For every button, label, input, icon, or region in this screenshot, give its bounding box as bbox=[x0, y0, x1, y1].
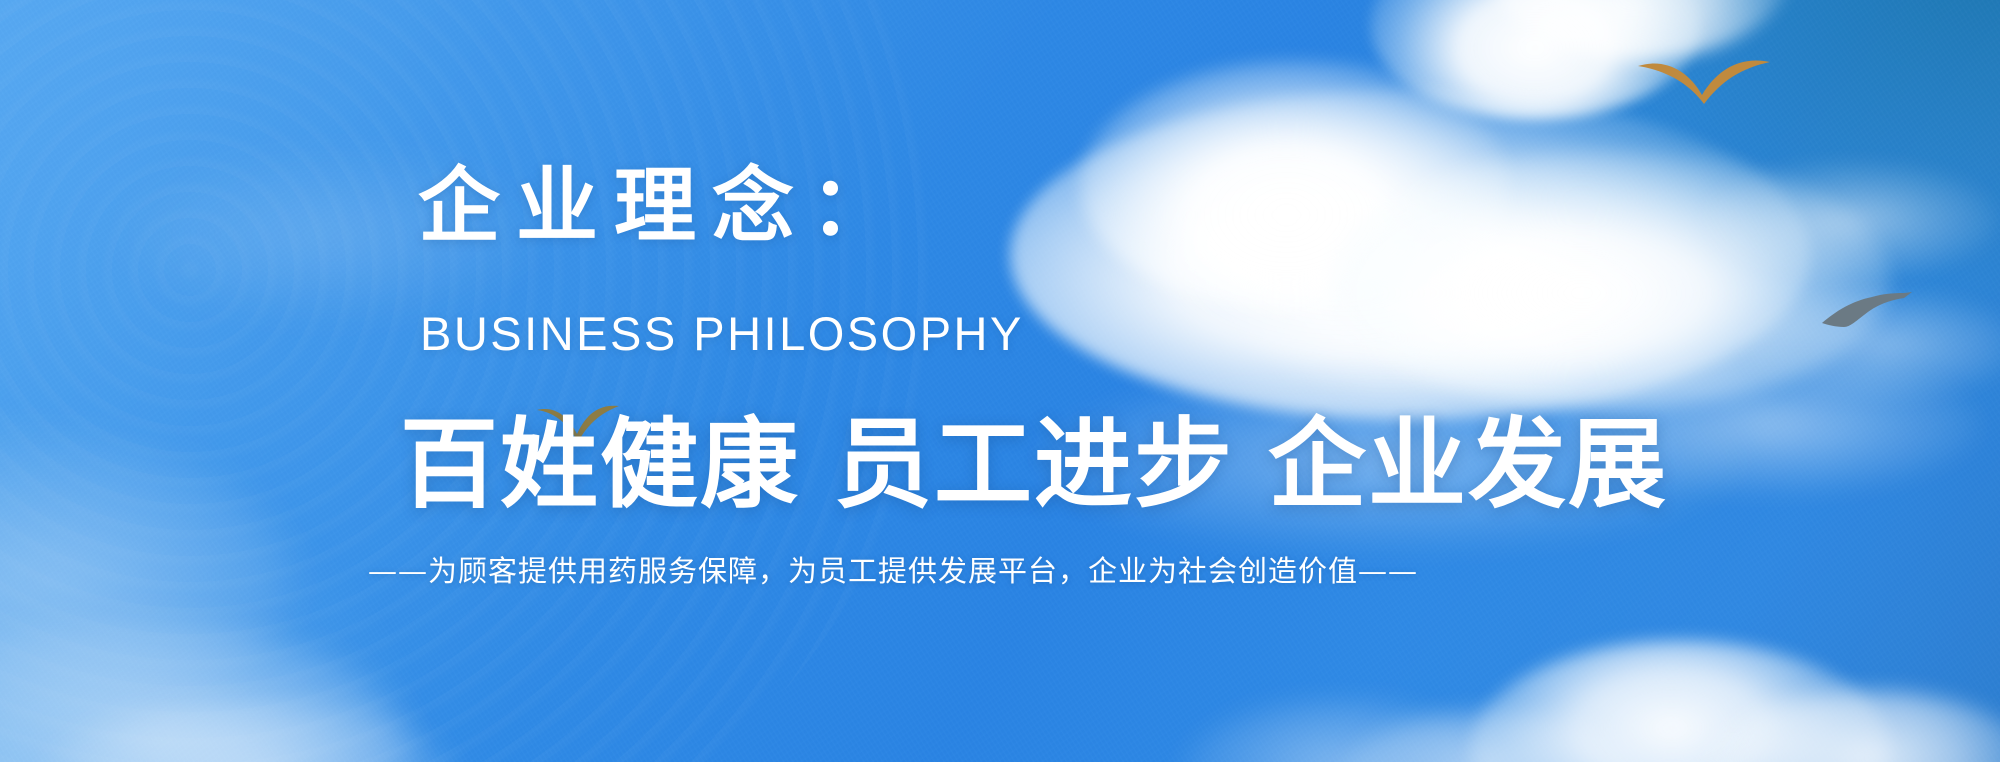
business-philosophy-banner: 企业理念： BUSINESS PHILOSOPHY 百姓健康员工进步企业发展 —… bbox=[0, 0, 2000, 762]
banner-text-layer: 企业理念： BUSINESS PHILOSOPHY 百姓健康员工进步企业发展 —… bbox=[0, 0, 2000, 762]
headline-segment-3: 企业发展 bbox=[1268, 409, 1668, 519]
headline-segment-2: 员工进步 bbox=[834, 409, 1234, 519]
eyebrow-chinese-title: 企业理念： bbox=[418, 160, 908, 254]
eyebrow-english-subtitle: BUSINESS PHILOSOPHY bbox=[420, 308, 1024, 360]
headline-segment-1: 百姓健康 bbox=[400, 409, 800, 519]
tagline: ——为顾客提供用药服务保障，为员工提供发展平台，企业为社会创造价值—— bbox=[368, 553, 1418, 591]
headline: 百姓健康员工进步企业发展 bbox=[400, 410, 1668, 520]
